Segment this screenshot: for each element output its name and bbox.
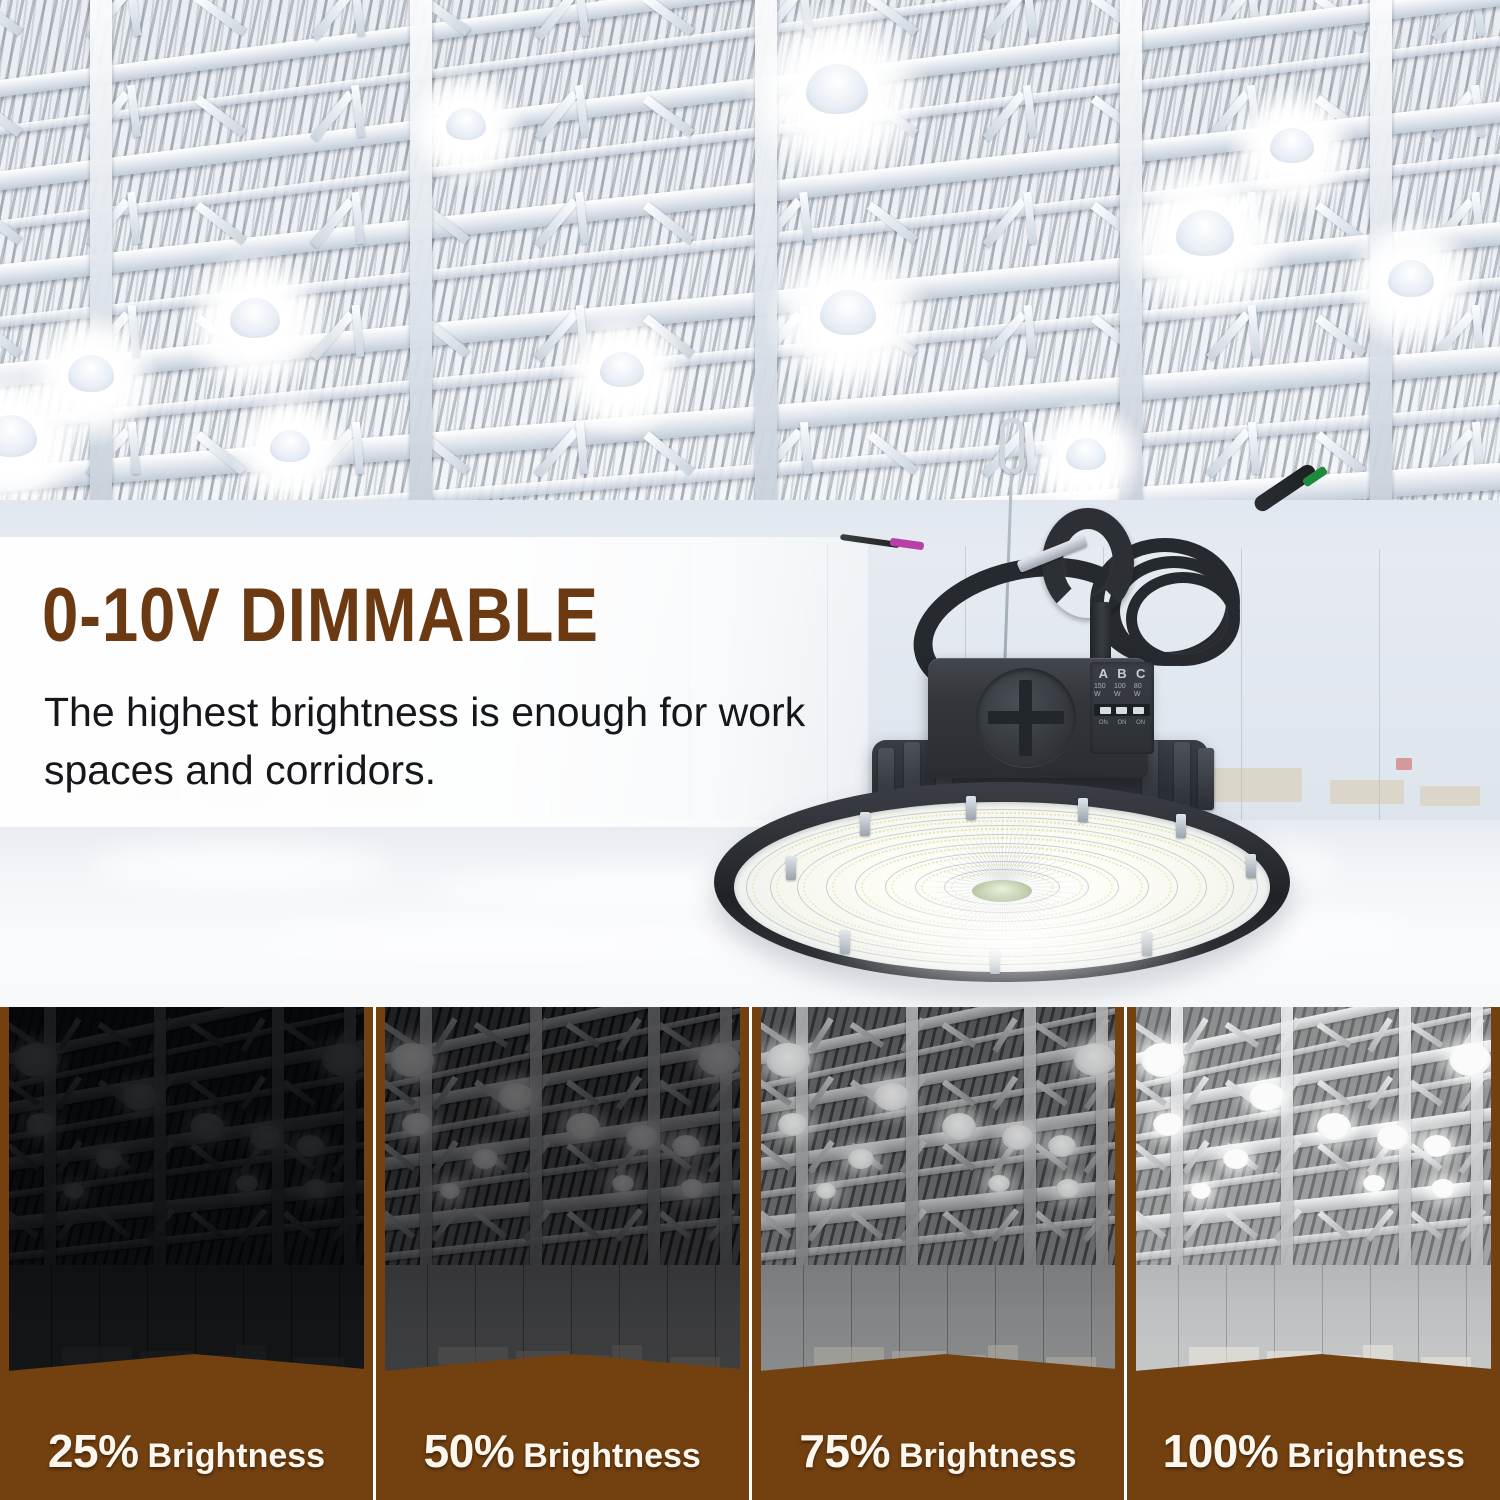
page-title: 0-10V DIMMABLE [42, 578, 599, 654]
pendant-light-fixture [230, 298, 280, 338]
power-cable-tail [1252, 462, 1319, 514]
pendant-light-fixture [1388, 260, 1434, 297]
dip-switch-3[interactable] [1133, 707, 1144, 714]
floor-crate [1330, 780, 1404, 804]
brightness-percent: 25% [48, 1425, 139, 1477]
selector-label-b: B [1117, 667, 1126, 681]
lens-mount-bracket [860, 812, 870, 836]
selector-letter-row: A B C [1094, 667, 1150, 681]
pendant-light-fixture [1270, 128, 1314, 163]
ceiling-column [90, 0, 112, 560]
wattage-selector-switch[interactable]: A B C 150 W 100 W 80 W ON ON ON [1090, 662, 1154, 754]
panel-caption: 50%Brightness [376, 1424, 749, 1478]
wattage-option-c: 80 W [1134, 683, 1150, 699]
brightness-panel[interactable]: 100%Brightness [1127, 1007, 1500, 1500]
panel-caption: 25%Brightness [0, 1424, 373, 1478]
pendant-light-fixture [820, 290, 876, 335]
dip-switch-bank[interactable] [1094, 704, 1150, 716]
knockout-cross-vertical [1019, 680, 1032, 756]
carabiner-icon [1000, 418, 1024, 474]
pendant-light-fixture [600, 352, 644, 387]
floor-crate [1420, 786, 1480, 806]
dip-legend-2: ON [1117, 720, 1126, 726]
lens-mount-bracket [786, 856, 796, 880]
pendant-light-fixture [446, 108, 486, 140]
brightness-comparison-strip: 25%Brightness 50%Brightness [0, 1007, 1500, 1500]
brightness-label: Brightness [1287, 1437, 1465, 1475]
lens-mount-bracket [1078, 798, 1088, 822]
product-marketing-image: 0-10V DIMMABLE The highest brightness is… [0, 0, 1500, 1500]
accent-wire-magenta-tip [890, 538, 925, 551]
wattage-option-a: 150 W [1094, 683, 1114, 699]
heatsink-fin [1198, 748, 1214, 810]
brightness-percent: 75% [799, 1425, 890, 1477]
floor-sheen [250, 924, 750, 954]
brightness-panel[interactable]: 50%Brightness [376, 1007, 749, 1500]
accent-marker-red [1396, 758, 1412, 770]
lens-mount-bracket [966, 796, 976, 820]
dip-switch-2[interactable] [1116, 707, 1127, 714]
lens-mount-bracket [1246, 854, 1256, 878]
brightness-percent: 50% [424, 1425, 515, 1477]
brightness-panel[interactable]: 75%Brightness [752, 1007, 1125, 1500]
brightness-label: Brightness [523, 1437, 701, 1475]
power-cable-coil-3 [1126, 572, 1240, 666]
brightness-percent: 100% [1163, 1425, 1279, 1477]
brightness-label: Brightness [147, 1437, 325, 1475]
floor-sheen [90, 844, 390, 888]
dip-legend-1: ON [1099, 720, 1108, 726]
brightness-panel[interactable]: 25%Brightness [0, 1007, 373, 1500]
wattage-row: 150 W 100 W 80 W [1094, 681, 1150, 699]
selector-label-c: C [1136, 667, 1145, 681]
lens-mount-bracket [1176, 814, 1186, 838]
led-output-glow [810, 880, 1210, 1000]
pendant-light-fixture [1176, 210, 1234, 256]
brightness-label: Brightness [899, 1437, 1077, 1475]
product-illustration: A B C 150 W 100 W 80 W ON ON ON [690, 410, 1310, 970]
hero-section: 0-10V DIMMABLE The highest brightness is… [0, 0, 1500, 1007]
selector-label-a: A [1099, 667, 1108, 681]
wattage-option-b: 100 W [1114, 683, 1134, 699]
mounting-hook [1042, 508, 1134, 618]
panel-caption: 100%Brightness [1127, 1424, 1500, 1478]
panel-caption: 75%Brightness [752, 1424, 1125, 1478]
pendant-light-fixture [68, 355, 114, 392]
dip-legend-3: ON [1136, 720, 1145, 726]
dip-switch-1[interactable] [1100, 707, 1111, 714]
dip-switch-legend: ON ON ON [1094, 720, 1150, 726]
pendant-light-fixture [270, 430, 310, 462]
